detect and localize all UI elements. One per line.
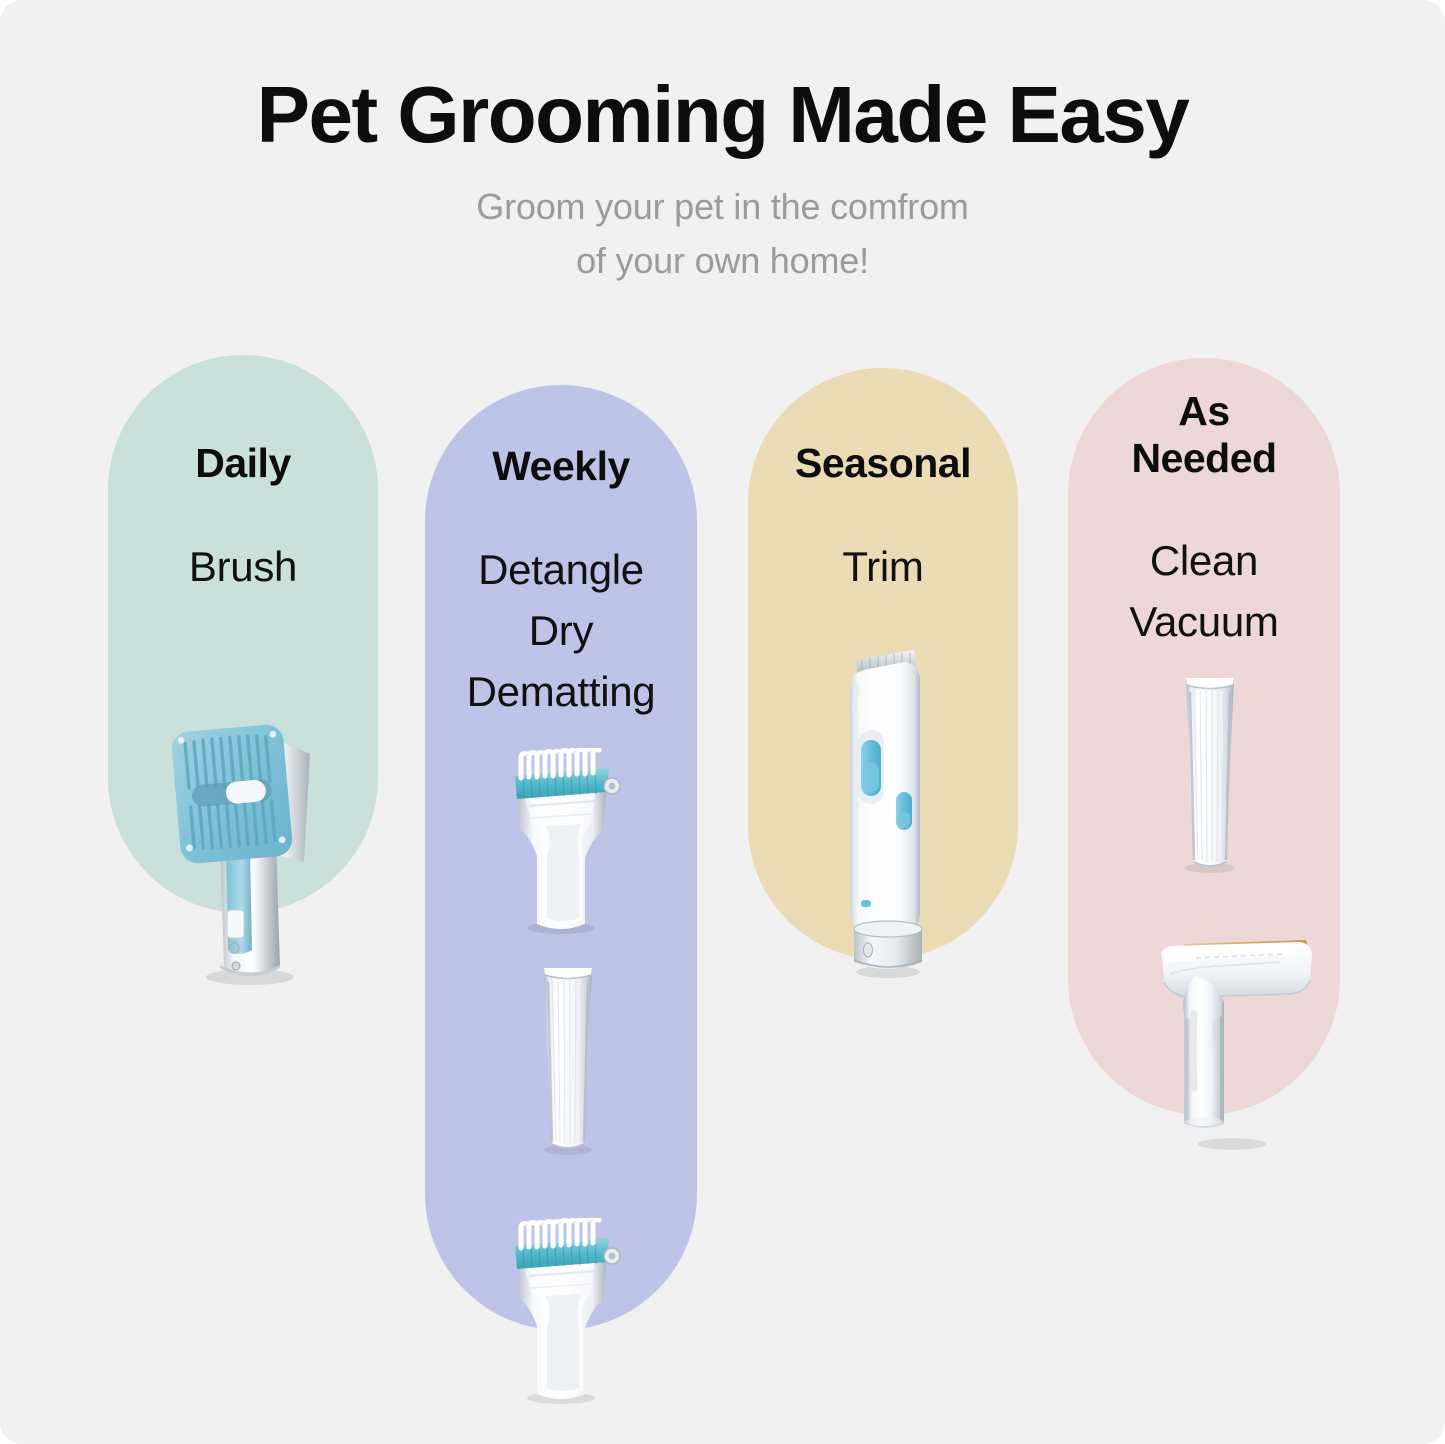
card-weekly-title: Weekly xyxy=(425,443,697,490)
poster-canvas: Pet Grooming Made Easy Groom your pet in… xyxy=(0,0,1445,1444)
card-as-needed-items: Clean Vacuum xyxy=(1068,531,1340,653)
pet-brush-attachment-icon xyxy=(168,722,338,987)
detangle-comb-attachment-icon xyxy=(495,748,637,934)
list-item: Clean xyxy=(1068,531,1340,592)
product-image-detangle-comb xyxy=(495,748,637,934)
list-item: Detangle xyxy=(425,540,697,601)
subtitle-line-1: Groom your pet in the comfrom xyxy=(476,186,968,227)
card-daily-head: Daily Brush xyxy=(108,440,378,598)
product-image-dryer-nozzle xyxy=(520,958,616,1156)
list-item: Brush xyxy=(108,537,378,598)
list-item: Dry xyxy=(425,601,697,662)
card-seasonal-items: Trim xyxy=(748,537,1018,598)
dematting-comb-attachment-icon xyxy=(495,1218,637,1404)
page-title: Pet Grooming Made Easy xyxy=(0,0,1445,158)
card-seasonal-head: Seasonal Trim xyxy=(748,440,1018,598)
header: Pet Grooming Made Easy Groom your pet in… xyxy=(0,0,1445,288)
subtitle-line-2: of your own home! xyxy=(576,240,869,281)
clipper-trimmer-icon xyxy=(828,644,948,980)
product-image-cleaning-head xyxy=(1140,918,1322,1152)
product-image-clipper xyxy=(828,644,948,980)
card-as-needed-title: As Needed xyxy=(1068,388,1340,481)
page-subtitle: Groom your pet in the comfrom of your ow… xyxy=(0,158,1445,288)
vacuum-nozzle-attachment-icon xyxy=(1162,668,1258,874)
card-as-needed-head: As Needed Clean Vacuum xyxy=(1068,388,1340,653)
card-seasonal-title: Seasonal xyxy=(748,440,1018,487)
cleaning-head-attachment-icon xyxy=(1140,918,1322,1152)
list-item: Vacuum xyxy=(1068,592,1340,653)
card-as-needed-title-line-1: As xyxy=(1178,388,1229,434)
dryer-nozzle-attachment-icon xyxy=(520,958,616,1156)
card-daily-title: Daily xyxy=(108,440,378,487)
product-image-pet-brush xyxy=(168,722,338,987)
product-image-dematting-comb xyxy=(495,1218,637,1404)
product-image-vacuum-nozzle xyxy=(1162,668,1258,874)
card-weekly-head: Weekly Detangle Dry Dematting xyxy=(425,443,697,722)
card-daily-items: Brush xyxy=(108,537,378,598)
list-item: Trim xyxy=(748,537,1018,598)
card-as-needed-title-line-2: Needed xyxy=(1131,435,1276,481)
list-item: Dematting xyxy=(425,662,697,723)
card-weekly-items: Detangle Dry Dematting xyxy=(425,540,697,723)
